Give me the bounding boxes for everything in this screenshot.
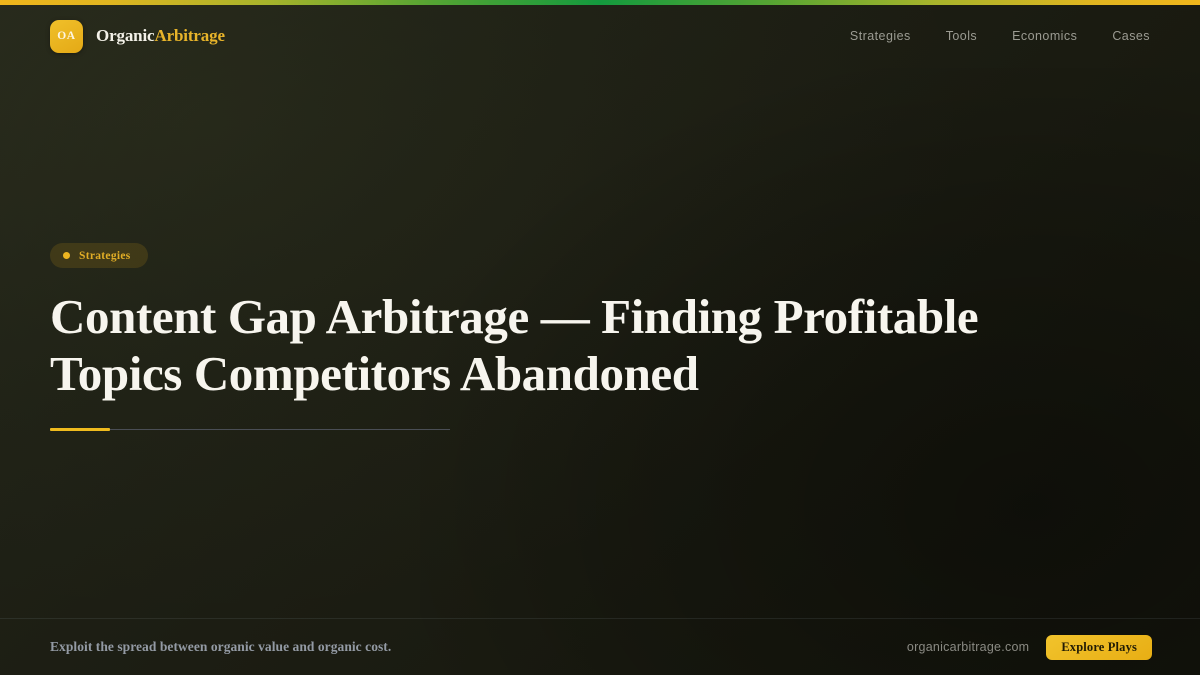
top-accent-gradient-bar: [0, 0, 1200, 5]
category-badge-label: Strategies: [79, 250, 131, 262]
brand-word-primary: Organic: [96, 26, 154, 45]
brand-word-accent: Arbitrage: [154, 26, 224, 45]
footer-tagline: Exploit the spread between organic value…: [50, 639, 391, 655]
divider-line: [50, 429, 450, 430]
site-header: OA OrganicArbitrage Strategies Tools Eco…: [0, 5, 1200, 67]
page-title: Content Gap Arbitrage — Finding Profitab…: [50, 288, 990, 402]
footer-actions: organicarbitrage.com Explore Plays: [907, 635, 1152, 660]
nav-link-strategies[interactable]: Strategies: [850, 29, 911, 43]
footer-domain-label: organicarbitrage.com: [907, 640, 1029, 654]
primary-navigation: Strategies Tools Economics Cases: [850, 29, 1150, 43]
explore-plays-button[interactable]: Explore Plays: [1046, 635, 1152, 660]
title-divider: [50, 428, 450, 431]
brand-logo[interactable]: OA OrganicArbitrage: [50, 20, 225, 53]
nav-link-economics[interactable]: Economics: [1012, 29, 1077, 43]
nav-link-tools[interactable]: Tools: [946, 29, 977, 43]
brand-wordmark: OrganicArbitrage: [96, 26, 225, 46]
site-footer: Exploit the spread between organic value…: [0, 618, 1200, 675]
badge-dot-icon: [63, 252, 70, 259]
category-badge[interactable]: Strategies: [50, 243, 148, 268]
page-background: OA OrganicArbitrage Strategies Tools Eco…: [0, 0, 1200, 675]
divider-accent: [50, 428, 110, 431]
brand-monogram-icon: OA: [50, 20, 83, 53]
nav-link-cases[interactable]: Cases: [1112, 29, 1150, 43]
hero-section: Strategies Content Gap Arbitrage — Findi…: [50, 243, 1050, 431]
